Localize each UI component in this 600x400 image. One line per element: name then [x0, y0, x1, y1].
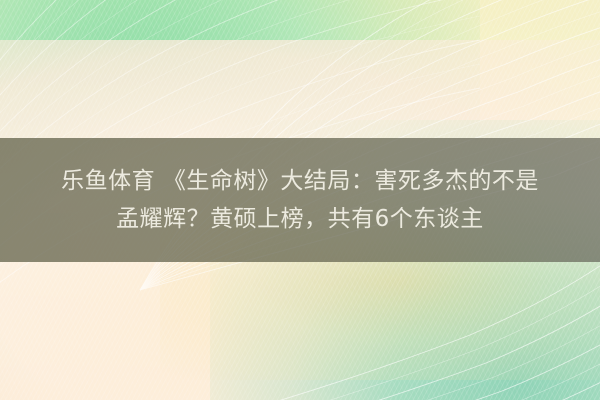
caption-line-1: 乐鱼体育 《生命树》大结局：害死多杰的不是	[61, 162, 539, 200]
promo-banner-image: 乐鱼体育 《生命树》大结局：害死多杰的不是 孟耀辉？黄硕上榜，共有6个东谈主	[0, 0, 600, 400]
caption-overlay-band: 乐鱼体育 《生命树》大结局：害死多杰的不是 孟耀辉？黄硕上榜，共有6个东谈主	[0, 138, 600, 262]
caption-line-2: 孟耀辉？黄硕上榜，共有6个东谈主	[116, 200, 484, 238]
